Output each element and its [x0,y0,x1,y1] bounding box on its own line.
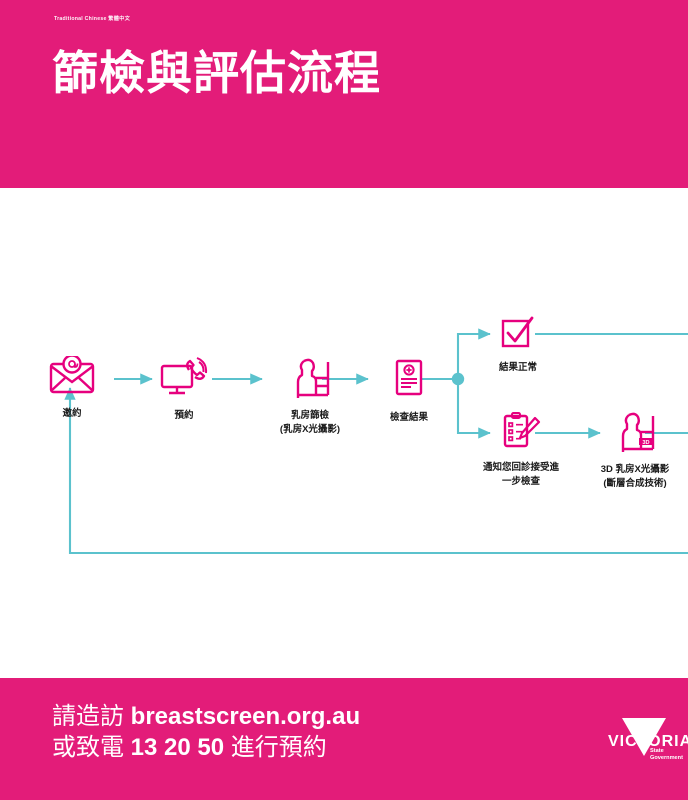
flow-node-results[interactable]: 檢查結果 [371,358,447,425]
report-document-icon [371,358,447,405]
victoria-logo-sub-line-1: State [650,748,683,755]
footer-call-suffix: 進行預約 [224,734,327,761]
poster-page: Traditional Chinese 繁體中文 篩檢與評估流程 [0,0,688,800]
flow-node-booking[interactable]: 預約 [146,356,222,423]
flow-node-results-label: 檢查結果 [371,412,447,425]
victoria-logo-subtitle: State Government [650,748,683,762]
envelope-at-icon [34,356,110,401]
flow-node-booking-label: 預約 [146,410,222,423]
flow-node-tomosynthesis[interactable]: 3D 3D 乳房X光攝影 (斷層合成技術) [580,410,688,490]
flow-node-normal-result[interactable]: 結果正常 [478,316,558,375]
footer-phone-number[interactable]: 13 20 50 [131,734,224,761]
footer-website-link[interactable]: breastscreen.org.au [131,703,360,730]
flow-node-screening-label-2: (乳房X光攝影) [255,424,365,437]
flow-node-invitation[interactable]: 邀約 [34,356,110,421]
victoria-logo-sub-line-2: Government [650,755,683,762]
checkmark-box-icon [478,316,558,355]
flow-node-screening[interactable]: 乳房篩檢 (乳房X光攝影) [255,356,365,436]
flow-node-screening-label-1: 乳房篩檢 [255,410,365,423]
victoria-state-government-logo: VICTORIA State Government [608,714,688,770]
flow-node-recall[interactable]: 通知您回診接受進 一步檢查 [466,412,576,488]
footer-visit-prefix: 請造訪 [52,703,131,730]
footer-call-prefix: 或致電 [52,734,131,761]
mammogram-3d-machine-icon: 3D [580,410,688,457]
branch-hub-dot [452,373,464,385]
footer-contact: 請造訪 breastscreen.org.au 或致電 13 20 50 進行預… [52,701,360,763]
flow-node-normal-result-label: 結果正常 [478,362,558,375]
clipboard-pencil-icon [466,412,576,455]
mammogram-machine-icon [255,356,365,403]
header-band: Traditional Chinese 繁體中文 篩檢與評估流程 [0,0,688,188]
flow-node-tomosynthesis-label-1: 3D 乳房X光攝影 [580,464,688,477]
flow-node-recall-label-2: 一步檢查 [466,476,576,489]
flow-node-tomosynthesis-label-2: (斷層合成技術) [580,478,688,491]
svg-text:3D: 3D [642,440,649,446]
flow-node-invitation-label: 邀約 [34,408,110,421]
footer-website-line: 請造訪 breastscreen.org.au [52,701,360,732]
footer-band: 請造訪 breastscreen.org.au 或致電 13 20 50 進行預… [0,678,688,800]
language-tag: Traditional Chinese 繁體中文 [54,15,130,22]
flow-node-recall-label-1: 通知您回診接受進 [466,462,576,475]
page-title: 篩檢與評估流程 [52,46,381,100]
footer-phone-line: 或致電 13 20 50 進行預約 [52,732,360,763]
flowchart-canvas: 邀約 預約 [0,188,688,678]
phone-monitor-icon [146,356,222,403]
